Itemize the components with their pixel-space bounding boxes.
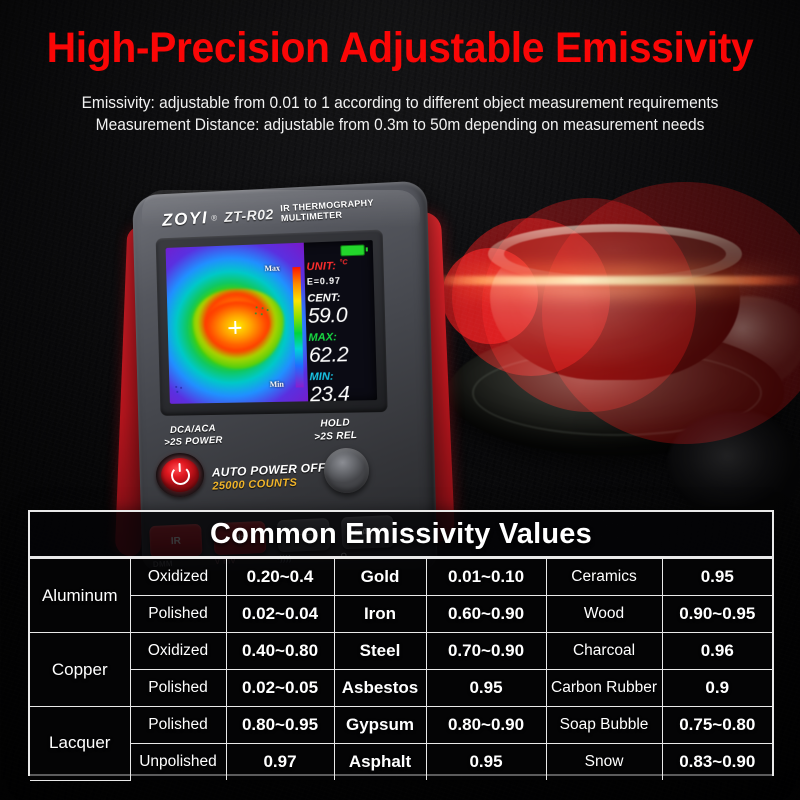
table-cell: 0.96 — [662, 633, 772, 670]
material-group-cell: Copper — [30, 633, 130, 707]
table-cell: Steel — [334, 633, 426, 670]
table-cell: Charcoal — [546, 633, 662, 670]
table-cell: Ceramics — [546, 559, 662, 596]
table-cell: Polished — [130, 670, 226, 707]
table-row: LacquerPolished0.80~0.95Gypsum0.80~0.90S… — [30, 707, 772, 744]
table-cell: 0.02~0.05 — [226, 670, 334, 707]
marketing-banner: High-Precision Adjustable Emissivity Emi… — [0, 0, 800, 800]
table-cell: Carbon Rubber — [546, 670, 662, 707]
emissivity-value: 0.97 — [320, 275, 341, 286]
table-cell: Polished — [130, 707, 226, 744]
scale-max-label: Max — [264, 264, 280, 274]
dca-aca-label: DCA/ACA >2S POWER — [163, 423, 222, 450]
unit-value: °C — [339, 259, 348, 266]
emissivity-row: E=0.97 — [307, 275, 374, 287]
unit-row: UNIT: °C — [306, 258, 373, 273]
hold-line-2: >2S REL — [314, 430, 357, 443]
min-temp-label: MIN: — [309, 370, 376, 383]
table-row: AluminumOxidized0.20~0.4Gold0.01~0.10Cer… — [30, 559, 772, 596]
table-cell: 0.9 — [662, 670, 772, 707]
hold-line-1: HOLD — [320, 417, 350, 429]
table-row: CopperOxidized0.40~0.80Steel0.70~0.90Cha… — [30, 633, 772, 670]
center-crosshair-icon — [228, 321, 241, 334]
subtitle-line-2: Measurement Distance: adjustable from 0.… — [24, 114, 776, 136]
material-group-cell: Lacquer — [30, 707, 130, 781]
max-temp-label: MAX: — [308, 331, 375, 344]
emissivity-table-body: AluminumOxidized0.20~0.4Gold0.01~0.10Cer… — [30, 559, 772, 781]
min-temp-value: 23.4 — [310, 382, 377, 403]
unit-label: UNIT: — [306, 260, 336, 273]
auto-power-off-label: AUTO POWER OFF 25000 COUNTS — [211, 460, 326, 492]
power-icon — [170, 465, 190, 485]
power-button[interactable] — [160, 457, 200, 493]
table-cell: Gold — [334, 559, 426, 596]
table-cell: 0.97 — [226, 744, 334, 781]
table-cell: 0.90~0.95 — [662, 596, 772, 633]
table-cell: 0.70~0.90 — [426, 633, 546, 670]
table-cell: 0.40~0.80 — [226, 633, 334, 670]
brand-name: ZOYI — [162, 208, 209, 231]
table-cell: 0.80~0.95 — [226, 707, 334, 744]
max-temp-value: 62.2 — [309, 343, 377, 366]
table-row: Polished0.02~0.04Iron0.60~0.90Wood0.90~0… — [30, 596, 772, 633]
hot-spot-markers — [254, 306, 270, 318]
table-cell: Oxidized — [130, 633, 226, 670]
material-group-cell: Aluminum — [30, 559, 130, 633]
thermal-image — [166, 243, 309, 404]
table-cell: 0.01~0.10 — [426, 559, 546, 596]
scale-min-label: Min — [270, 380, 284, 389]
table-cell: 0.75~0.80 — [662, 707, 772, 744]
emissivity-table: AluminumOxidized0.20~0.4Gold0.01~0.10Cer… — [30, 558, 772, 781]
page-title: High-Precision Adjustable Emissivity — [20, 24, 780, 72]
table-cell: Unpolished — [130, 744, 226, 781]
table-cell: Asbestos — [334, 670, 426, 707]
hold-label: HOLD >2S REL — [313, 417, 357, 444]
emissivity-table-panel: Common Emissivity Values AluminumOxidize… — [28, 510, 774, 776]
measurement-readout: UNIT: °C E=0.97 CENT: 59.0 MAX: 62.2 MIN… — [306, 258, 377, 401]
table-cell: Asphalt — [334, 744, 426, 781]
subtitle-line-1: Emissivity: adjustable from 0.01 to 1 ac… — [24, 92, 776, 114]
table-row: Polished0.02~0.05Asbestos0.95Carbon Rubb… — [30, 670, 772, 707]
center-temp-label: CENT: — [307, 291, 374, 304]
table-cell: 0.83~0.90 — [662, 744, 772, 781]
table-cell: 0.80~0.90 — [426, 707, 546, 744]
dca-line-1: DCA/ACA — [170, 423, 216, 436]
table-row: Unpolished0.97Asphalt0.95Snow0.83~0.90 — [30, 744, 772, 781]
center-temp-value: 59.0 — [308, 303, 375, 326]
cold-spot-markers — [175, 386, 184, 394]
table-cell: 0.60~0.90 — [426, 596, 546, 633]
device-category: IR THERMOGRAPHY MULTIMETER — [280, 197, 375, 224]
table-cell: 0.95 — [426, 744, 546, 781]
table-cell: 0.95 — [426, 670, 546, 707]
table-cell: 0.95 — [662, 559, 772, 596]
table-cell: Snow — [546, 744, 662, 781]
table-cell: Oxidized — [130, 559, 226, 596]
table-cell: Polished — [130, 596, 226, 633]
table-cell: 0.20~0.4 — [226, 559, 334, 596]
table-cell: Soap Bubble — [546, 707, 662, 744]
model-number: ZT-R02 — [224, 206, 275, 225]
table-cell: Gypsum — [334, 707, 426, 744]
table-cell: Iron — [334, 596, 426, 633]
dca-line-2: >2S POWER — [164, 435, 223, 449]
lcd-screen: Max Min UNIT: °C E=0.97 CENT: 59.0 MAX: … — [166, 240, 378, 404]
registered-mark-icon: ® — [211, 213, 217, 222]
screen-bezel: Max Min UNIT: °C E=0.97 CENT: 59.0 MAX: … — [156, 230, 388, 416]
table-cell: 0.02~0.04 — [226, 596, 334, 633]
table-title: Common Emissivity Values — [30, 512, 772, 558]
table-cell: Wood — [546, 596, 662, 633]
battery-full-icon — [340, 244, 365, 256]
